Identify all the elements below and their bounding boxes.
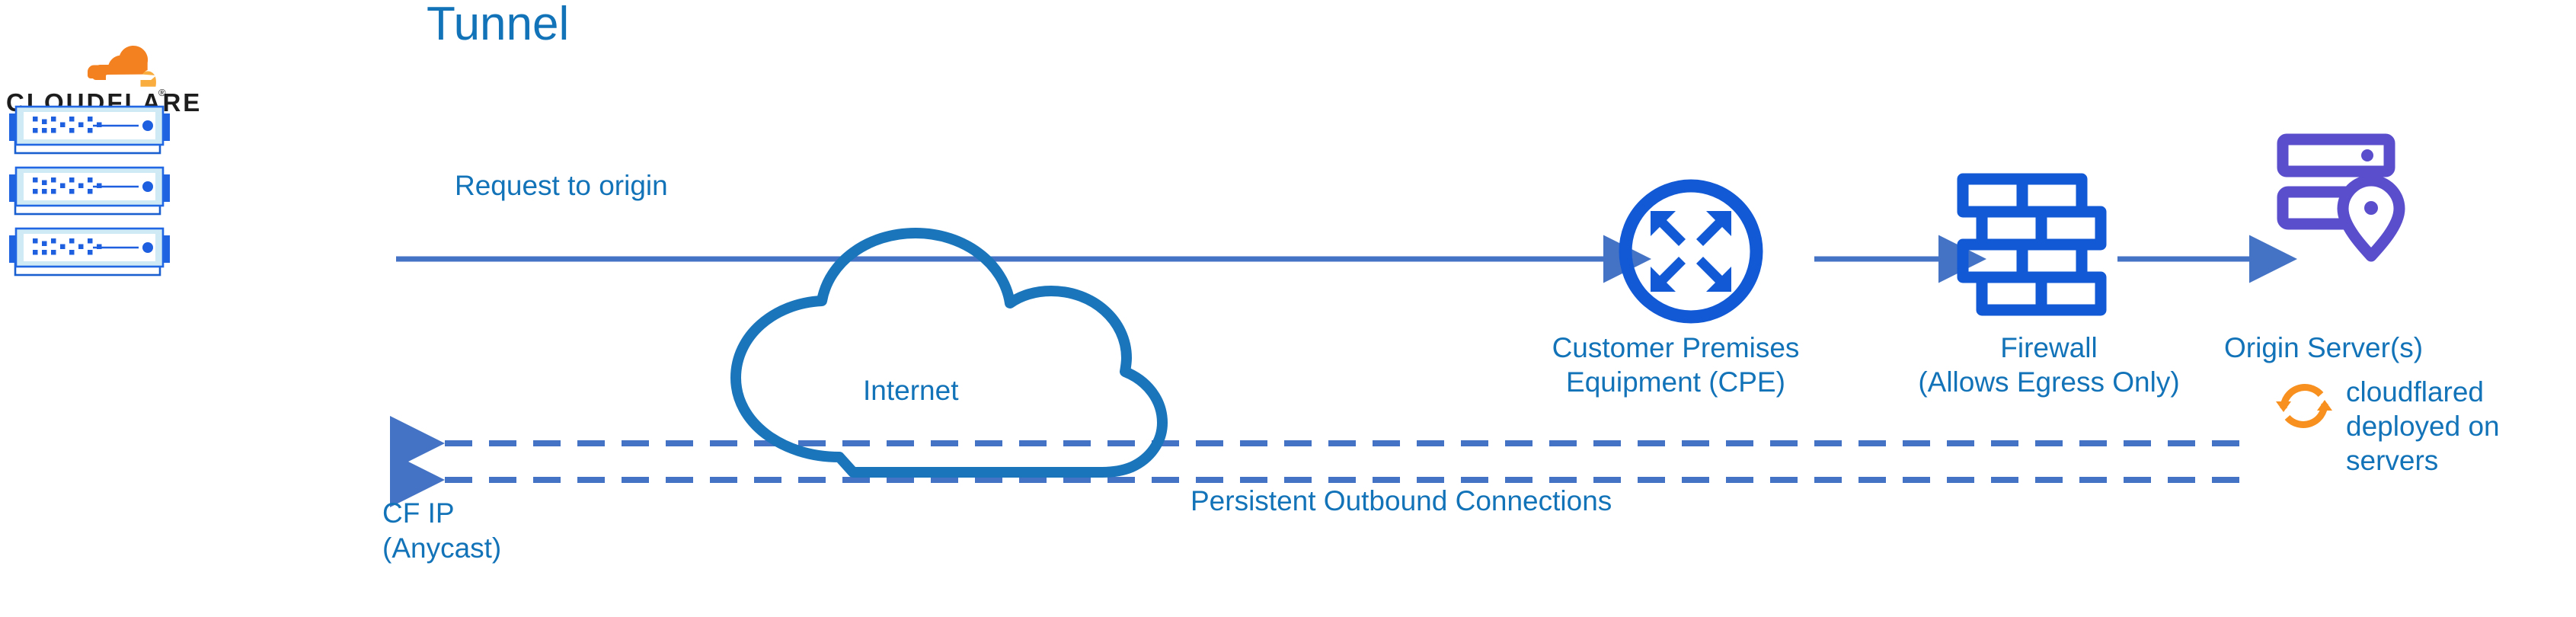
cloud-icon: [708, 229, 1173, 491]
brick-wall-icon: [1951, 171, 2104, 324]
cf-ip-line1: CF IP: [382, 496, 501, 531]
cf-ip-label: CF IP (Anycast): [382, 496, 501, 566]
sync-refresh-icon: [2274, 376, 2335, 436]
cpe-label-line1: Customer Premises: [1501, 331, 1851, 365]
request-to-origin-label: Request to origin: [455, 170, 668, 202]
cpe-label-line2: Equipment (CPE): [1501, 365, 1851, 399]
diagram-canvas: Tunnel CLOUDFLARE ®: [0, 0, 2576, 617]
firewall-label: Firewall (Allows Egress Only): [1881, 331, 2216, 399]
cloudflared-note-text: cloudflared deployed on servers: [2346, 375, 2521, 478]
cf-ip-line2: (Anycast): [382, 531, 501, 566]
firewall-label-line2: (Allows Egress Only): [1881, 365, 2216, 399]
router-arrows-circle-icon: [1615, 175, 1767, 328]
persistent-outbound-connections-label: Persistent Outbound Connections: [1191, 485, 1612, 517]
firewall-label-line1: Firewall: [1881, 331, 2216, 365]
origin-server-pin-icon: [2274, 133, 2426, 286]
cpe-label: Customer Premises Equipment (CPE): [1501, 331, 1851, 399]
origin-server-label-text: Origin Server(s): [2224, 331, 2574, 365]
origin-server-label: Origin Server(s): [2224, 331, 2574, 365]
internet-label: Internet: [863, 375, 958, 407]
